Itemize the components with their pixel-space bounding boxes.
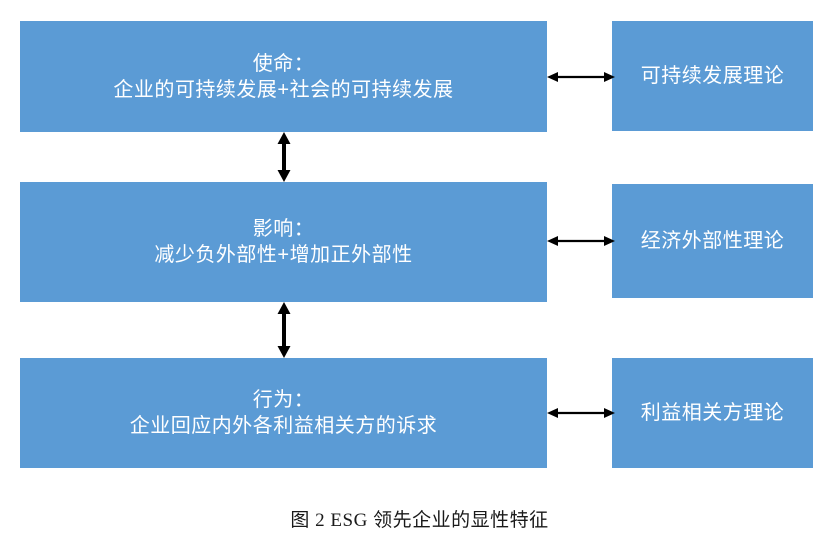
sustainable-development-theory-box: 可持续发展理论 (612, 21, 813, 131)
figure-caption: 图 2 ESG 领先企业的显性特征 (0, 505, 839, 532)
sustainable-development-theory-label: 可持续发展理论 (641, 63, 785, 89)
figure-container: 使命： 企业的可持续发展+社会的可持续发展 影响： 减少负外部性+增加正外部性 … (0, 0, 839, 547)
impact-box-label: 影响： 减少负外部性+增加正外部性 (154, 216, 412, 268)
economic-externality-theory-label: 经济外部性理论 (641, 228, 785, 254)
double-arrow-vertical-icon (266, 302, 302, 358)
mission-box-label: 使命： 企业的可持续发展+社会的可持续发展 (113, 51, 453, 103)
behavior-box: 行为： 企业回应内外各利益相关方的诉求 (20, 358, 547, 468)
impact-box: 影响： 减少负外部性+增加正外部性 (20, 182, 547, 302)
double-arrow-horizontal-icon (547, 398, 615, 428)
behavior-box-label: 行为： 企业回应内外各利益相关方的诉求 (130, 387, 438, 439)
double-arrow-horizontal-icon (547, 226, 615, 256)
double-arrow-horizontal-icon (547, 62, 615, 92)
stakeholder-theory-label: 利益相关方理论 (641, 400, 785, 426)
stakeholder-theory-box: 利益相关方理论 (612, 358, 813, 468)
economic-externality-theory-box: 经济外部性理论 (612, 184, 813, 298)
double-arrow-vertical-icon (266, 132, 302, 182)
mission-box: 使命： 企业的可持续发展+社会的可持续发展 (20, 21, 547, 132)
